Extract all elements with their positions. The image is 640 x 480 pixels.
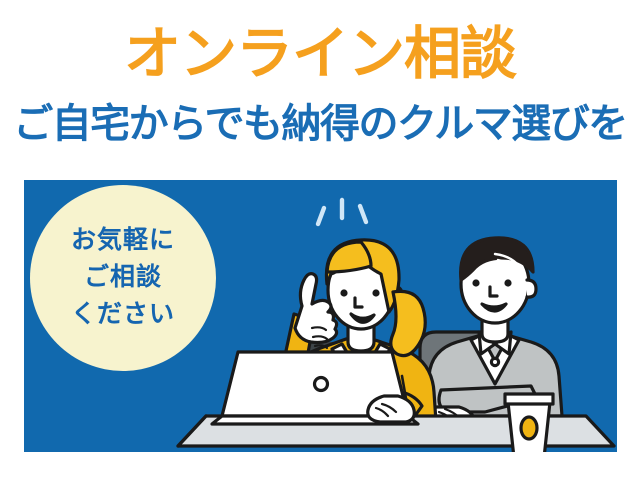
woman-fringe	[327, 242, 371, 272]
woman-eye-left	[340, 289, 347, 296]
banner-image: オンライン相談 ご自宅からでも納得のクルマ選びを	[0, 0, 640, 480]
coffee-cup-lid	[505, 394, 553, 404]
page-title: オンライン相談	[0, 26, 640, 83]
badge-text: お気軽に ご相談 ください	[30, 222, 216, 333]
man-ear	[527, 280, 536, 297]
badge-line-1: お気軽に	[30, 222, 216, 259]
badge-line-3: ください	[30, 296, 216, 333]
man-eye-left	[472, 279, 479, 286]
man-shirt-button	[491, 358, 498, 365]
coffee-cup-logo-icon	[521, 417, 537, 439]
laptop-logo-icon	[315, 378, 328, 391]
sparkle-icon-left	[318, 208, 324, 224]
man-eye-right	[504, 279, 511, 286]
sparkle-icon-right	[360, 206, 366, 222]
badge-line-2: ご相談	[30, 259, 216, 296]
page-subtitle: ご自宅からでも納得のクルマ選びを	[0, 104, 640, 144]
illustration-panel: お気軽に ご相談 ください	[24, 180, 617, 452]
woman-eye-right	[372, 289, 379, 296]
